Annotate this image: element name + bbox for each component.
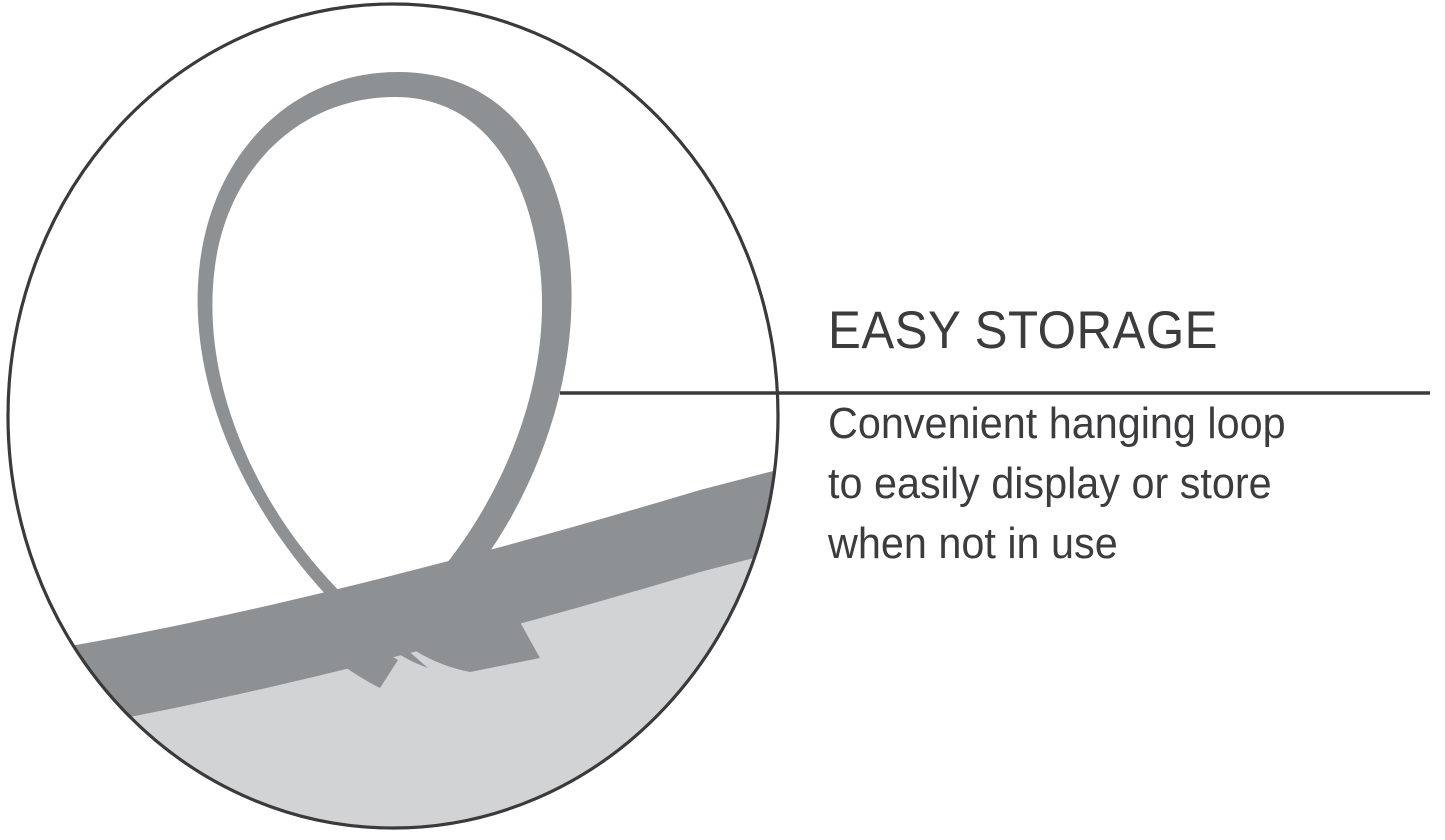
callout-body: Convenient hanging loop to easily displa… [828,394,1392,574]
callout-body-line-2: to easily display or store [828,454,1392,514]
callout-body-line-1: Convenient hanging loop [828,394,1392,454]
callout-figure: EASY STORAGE Convenient hanging loop to … [0,0,1445,840]
callout-body-line-3: when not in use [828,514,1392,574]
callout-text-block: EASY STORAGE Convenient hanging loop to … [828,300,1428,574]
callout-title: EASY STORAGE [828,300,1386,362]
